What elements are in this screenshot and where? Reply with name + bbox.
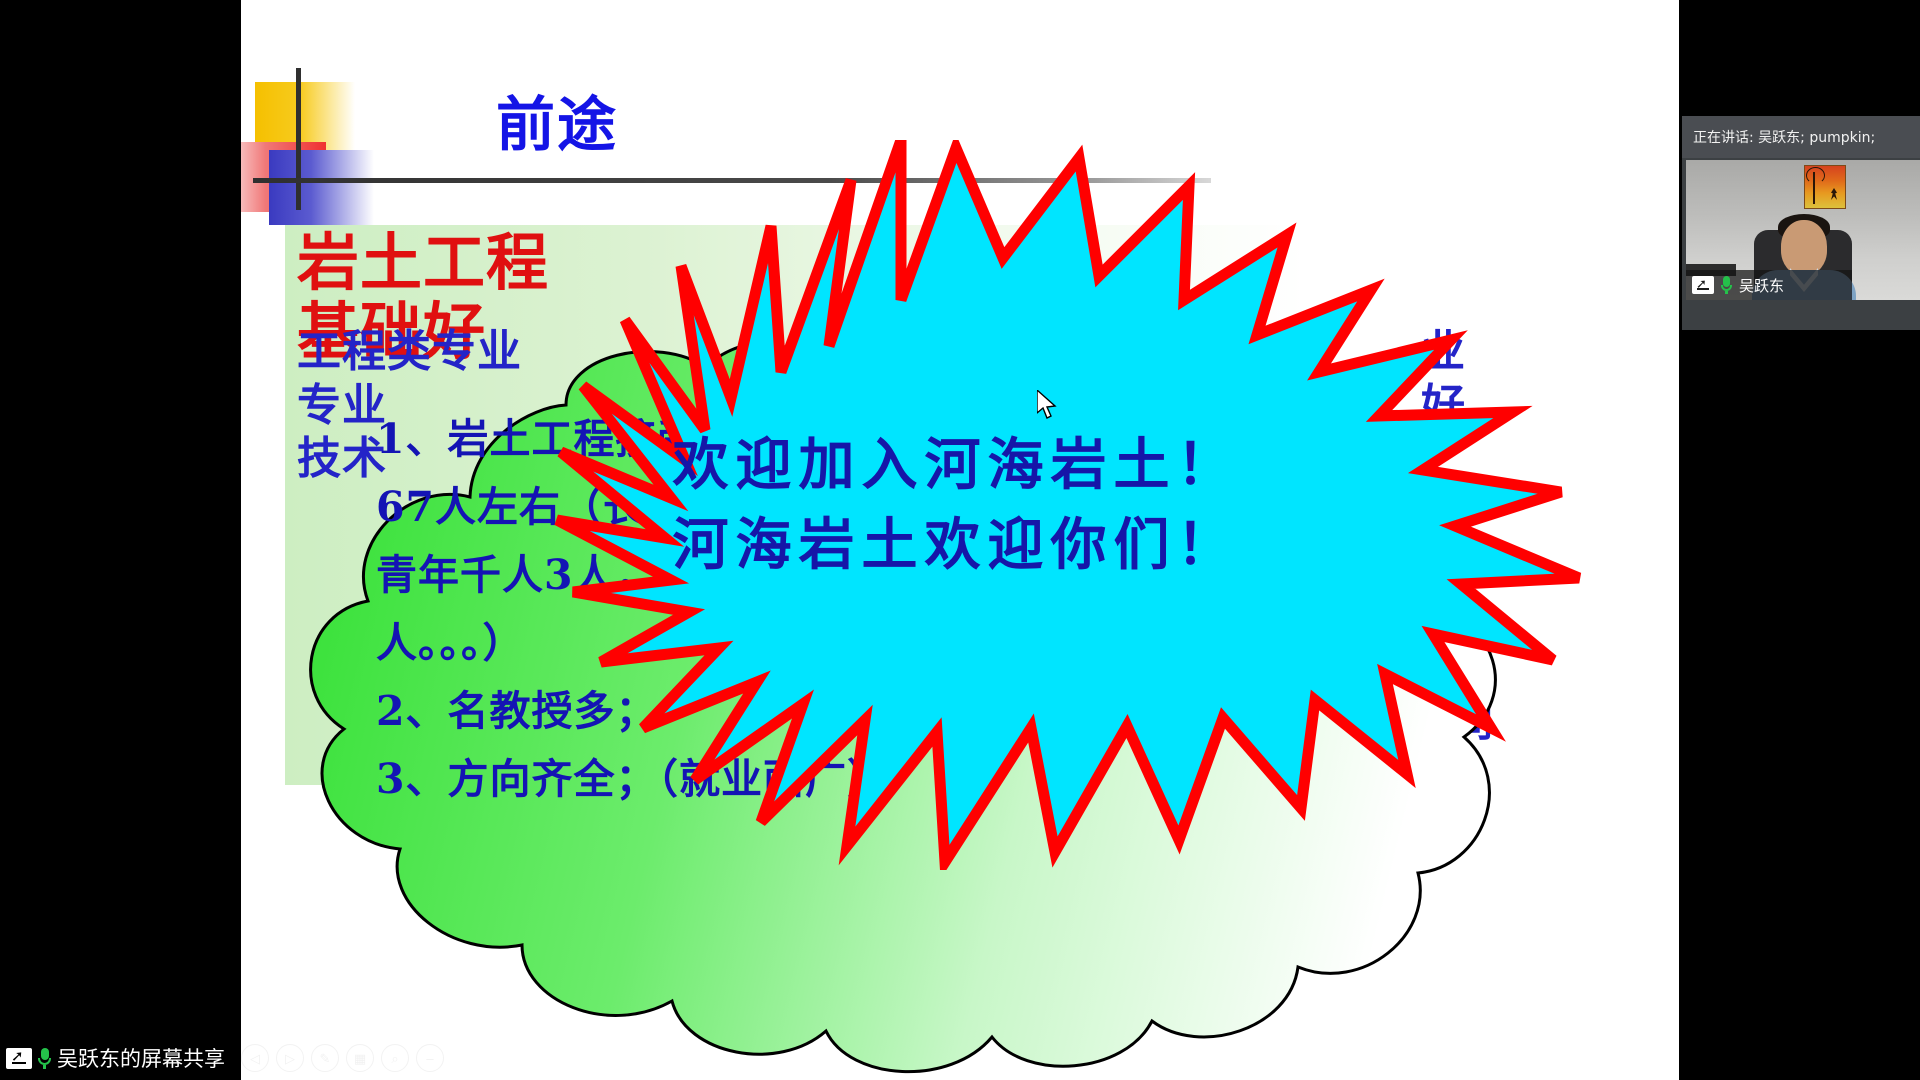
more-options-button[interactable]: –: [416, 1044, 444, 1072]
active-speaker-bar: 正在讲话: 吴跃东; pumpkin;: [1682, 116, 1920, 158]
screen-share-status-label: 吴跃东的屏幕共享: [57, 1043, 225, 1073]
participant-head-shape: [1781, 220, 1827, 275]
screen-root: 前途 岩土工程 基础好 工程类专业 专业 技术 业 好 司: [0, 0, 1920, 1080]
zoom-video-panel[interactable]: 正在讲话: 吴跃东; pumpkin; ➚ 吴跃东: [1682, 116, 1920, 330]
microphone-icon: [1721, 276, 1732, 294]
zoom-button[interactable]: ⌕: [381, 1044, 409, 1072]
participant-video-tile[interactable]: ➚ 吴跃东: [1686, 160, 1920, 300]
wall-painting-decoration: [1804, 165, 1846, 209]
painting-figure-shape: [1831, 188, 1837, 200]
painting-tree-shape: [1813, 172, 1815, 204]
shared-screen-powerpoint-slide[interactable]: 前途 岩土工程 基础好 工程类专业 专业 技术 业 好 司: [241, 0, 1679, 1080]
screen-share-status-bar: ➚ 吴跃东的屏幕共享: [0, 1036, 225, 1080]
cyan-explosion-callout: 欢迎加入河海岩土！ 河海岩土欢迎你们！: [261, 140, 1651, 870]
next-slide-button[interactable]: ▷: [276, 1044, 304, 1072]
active-speaker-label: 正在讲话: 吴跃东; pumpkin;: [1693, 127, 1875, 147]
participant-name-strip: ➚ 吴跃东: [1686, 270, 1852, 300]
explosion-shape: [261, 140, 1651, 870]
pen-tool-button[interactable]: ✎: [311, 1044, 339, 1072]
powerpoint-slideshow-toolbar[interactable]: ◁ ▷ ✎ ▦ ⌕ –: [241, 1044, 444, 1072]
participant-name-label: 吴跃东: [1739, 275, 1784, 296]
share-arrow-glyph: ➚: [11, 1051, 27, 1062]
share-arrow-glyph: ➚: [1696, 279, 1710, 288]
screen-share-icon: ➚: [6, 1048, 32, 1069]
previous-slide-button[interactable]: ◁: [241, 1044, 269, 1072]
microphone-icon: [38, 1048, 51, 1069]
slide-thumbnails-button[interactable]: ▦: [346, 1044, 374, 1072]
screen-share-icon: ➚: [1692, 276, 1714, 294]
